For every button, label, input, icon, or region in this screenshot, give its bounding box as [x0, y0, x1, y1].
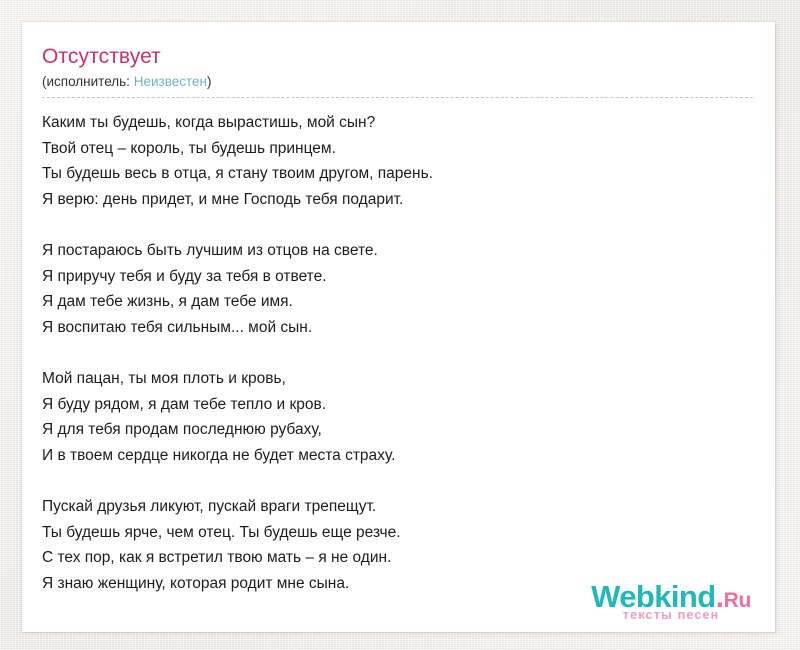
lyric-stanza: Я постараюсь быть лучшим из отцов на све…: [42, 238, 755, 340]
lyric-line: Я постараюсь быть лучшим из отцов на све…: [42, 238, 755, 264]
lyric-line: Твой отец – король, ты будешь принцем.: [42, 136, 755, 162]
lyric-stanza: Каким ты будешь, когда вырастишь, мой сы…: [42, 110, 755, 212]
page-root: Отсутствует (исполнитель: Неизвестен) Ка…: [0, 0, 800, 650]
lyric-line: Ты будешь ярче, чем отец. Ты будешь еще …: [42, 520, 755, 546]
lyric-line: Я воспитаю тебя сильным... мой сын.: [42, 315, 755, 341]
lyric-line: Каким ты будешь, когда вырастишь, мой сы…: [42, 110, 755, 136]
content-panel: Отсутствует (исполнитель: Неизвестен) Ка…: [22, 22, 775, 632]
lyric-line: Я дам тебе жизнь, я дам тебе имя.: [42, 289, 755, 315]
site-logo[interactable]: Webkind.Ru тексты песен: [591, 581, 751, 622]
lyric-line: Мой пацан, ты моя плоть и кровь,: [42, 366, 755, 392]
lyric-line: Я верю: день придет, и мне Господь тебя …: [42, 187, 755, 213]
lyric-stanza: Мой пацан, ты моя плоть и кровь, Я буду …: [42, 366, 755, 468]
performer-line: (исполнитель: Неизвестен): [42, 73, 753, 98]
performer-paren-close: ): [207, 74, 212, 89]
lyric-line: Я для тебя продам последнюю рубаху,: [42, 417, 755, 443]
performer-link[interactable]: Неизвестен: [134, 74, 207, 89]
lyric-line: Пускай друзья ликуют, пускай враги трепе…: [42, 494, 755, 520]
lyric-line: Я приручу тебя и буду за тебя в ответе.: [42, 264, 755, 290]
song-header: Отсутствует (исполнитель: Неизвестен): [22, 22, 775, 98]
lyrics-body: Каким ты будешь, когда вырастишь, мой сы…: [22, 98, 775, 596]
lyric-line: С тех пор, как я встретил твою мать – я …: [42, 545, 755, 571]
page-title: Отсутствует: [42, 44, 755, 70]
lyric-line: И в твоем сердце никогда не будет места …: [42, 443, 755, 469]
performer-label: (исполнитель:: [42, 74, 130, 89]
lyric-line: Я буду рядом, я дам тебе тепло и кров.: [42, 392, 755, 418]
lyric-line: Ты будешь весь в отца, я стану твоим дру…: [42, 161, 755, 187]
logo-tld-text: Ru: [724, 589, 751, 612]
